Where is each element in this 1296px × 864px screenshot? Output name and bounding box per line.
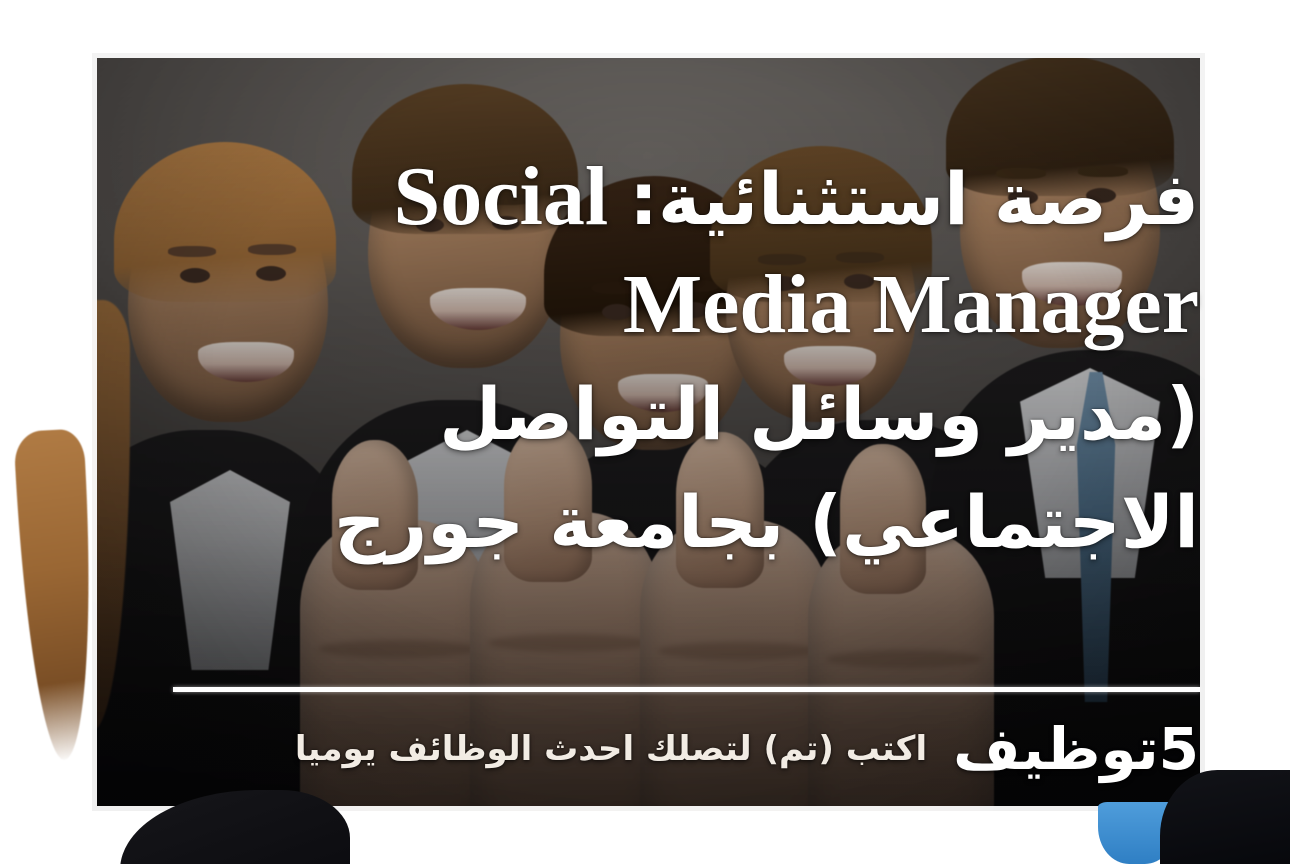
headline-arabic-line3: (مدير وسائل التواصل xyxy=(439,372,1199,456)
headline-latin-line2: Media Manager xyxy=(623,258,1199,351)
poster-headline: فرصة استثنائية: Social Media Manager (مد… xyxy=(92,53,1205,573)
headline-latin-line1: Social xyxy=(394,150,609,243)
poster-canvas: فرصة استثنائية: Social Media Manager (مد… xyxy=(0,0,1296,864)
headline-arabic-prefix: فرصة استثنائية: xyxy=(629,157,1199,241)
text-overlay: فرصة استثنائية: Social Media Manager (مد… xyxy=(92,53,1205,811)
horizontal-separator xyxy=(173,687,1200,692)
footer-tagline: اكتب (تم) لتصلك احدث الوظائف يوميا xyxy=(295,732,927,766)
headline-arabic-line4: الاجتماعي) بجامعة جورج xyxy=(334,480,1199,564)
footer-bar: 5توظيف اكتب (تم) لتصلك احدث الوظائف يومي… xyxy=(92,701,1205,797)
brand-name: 5توظيف xyxy=(953,720,1199,778)
